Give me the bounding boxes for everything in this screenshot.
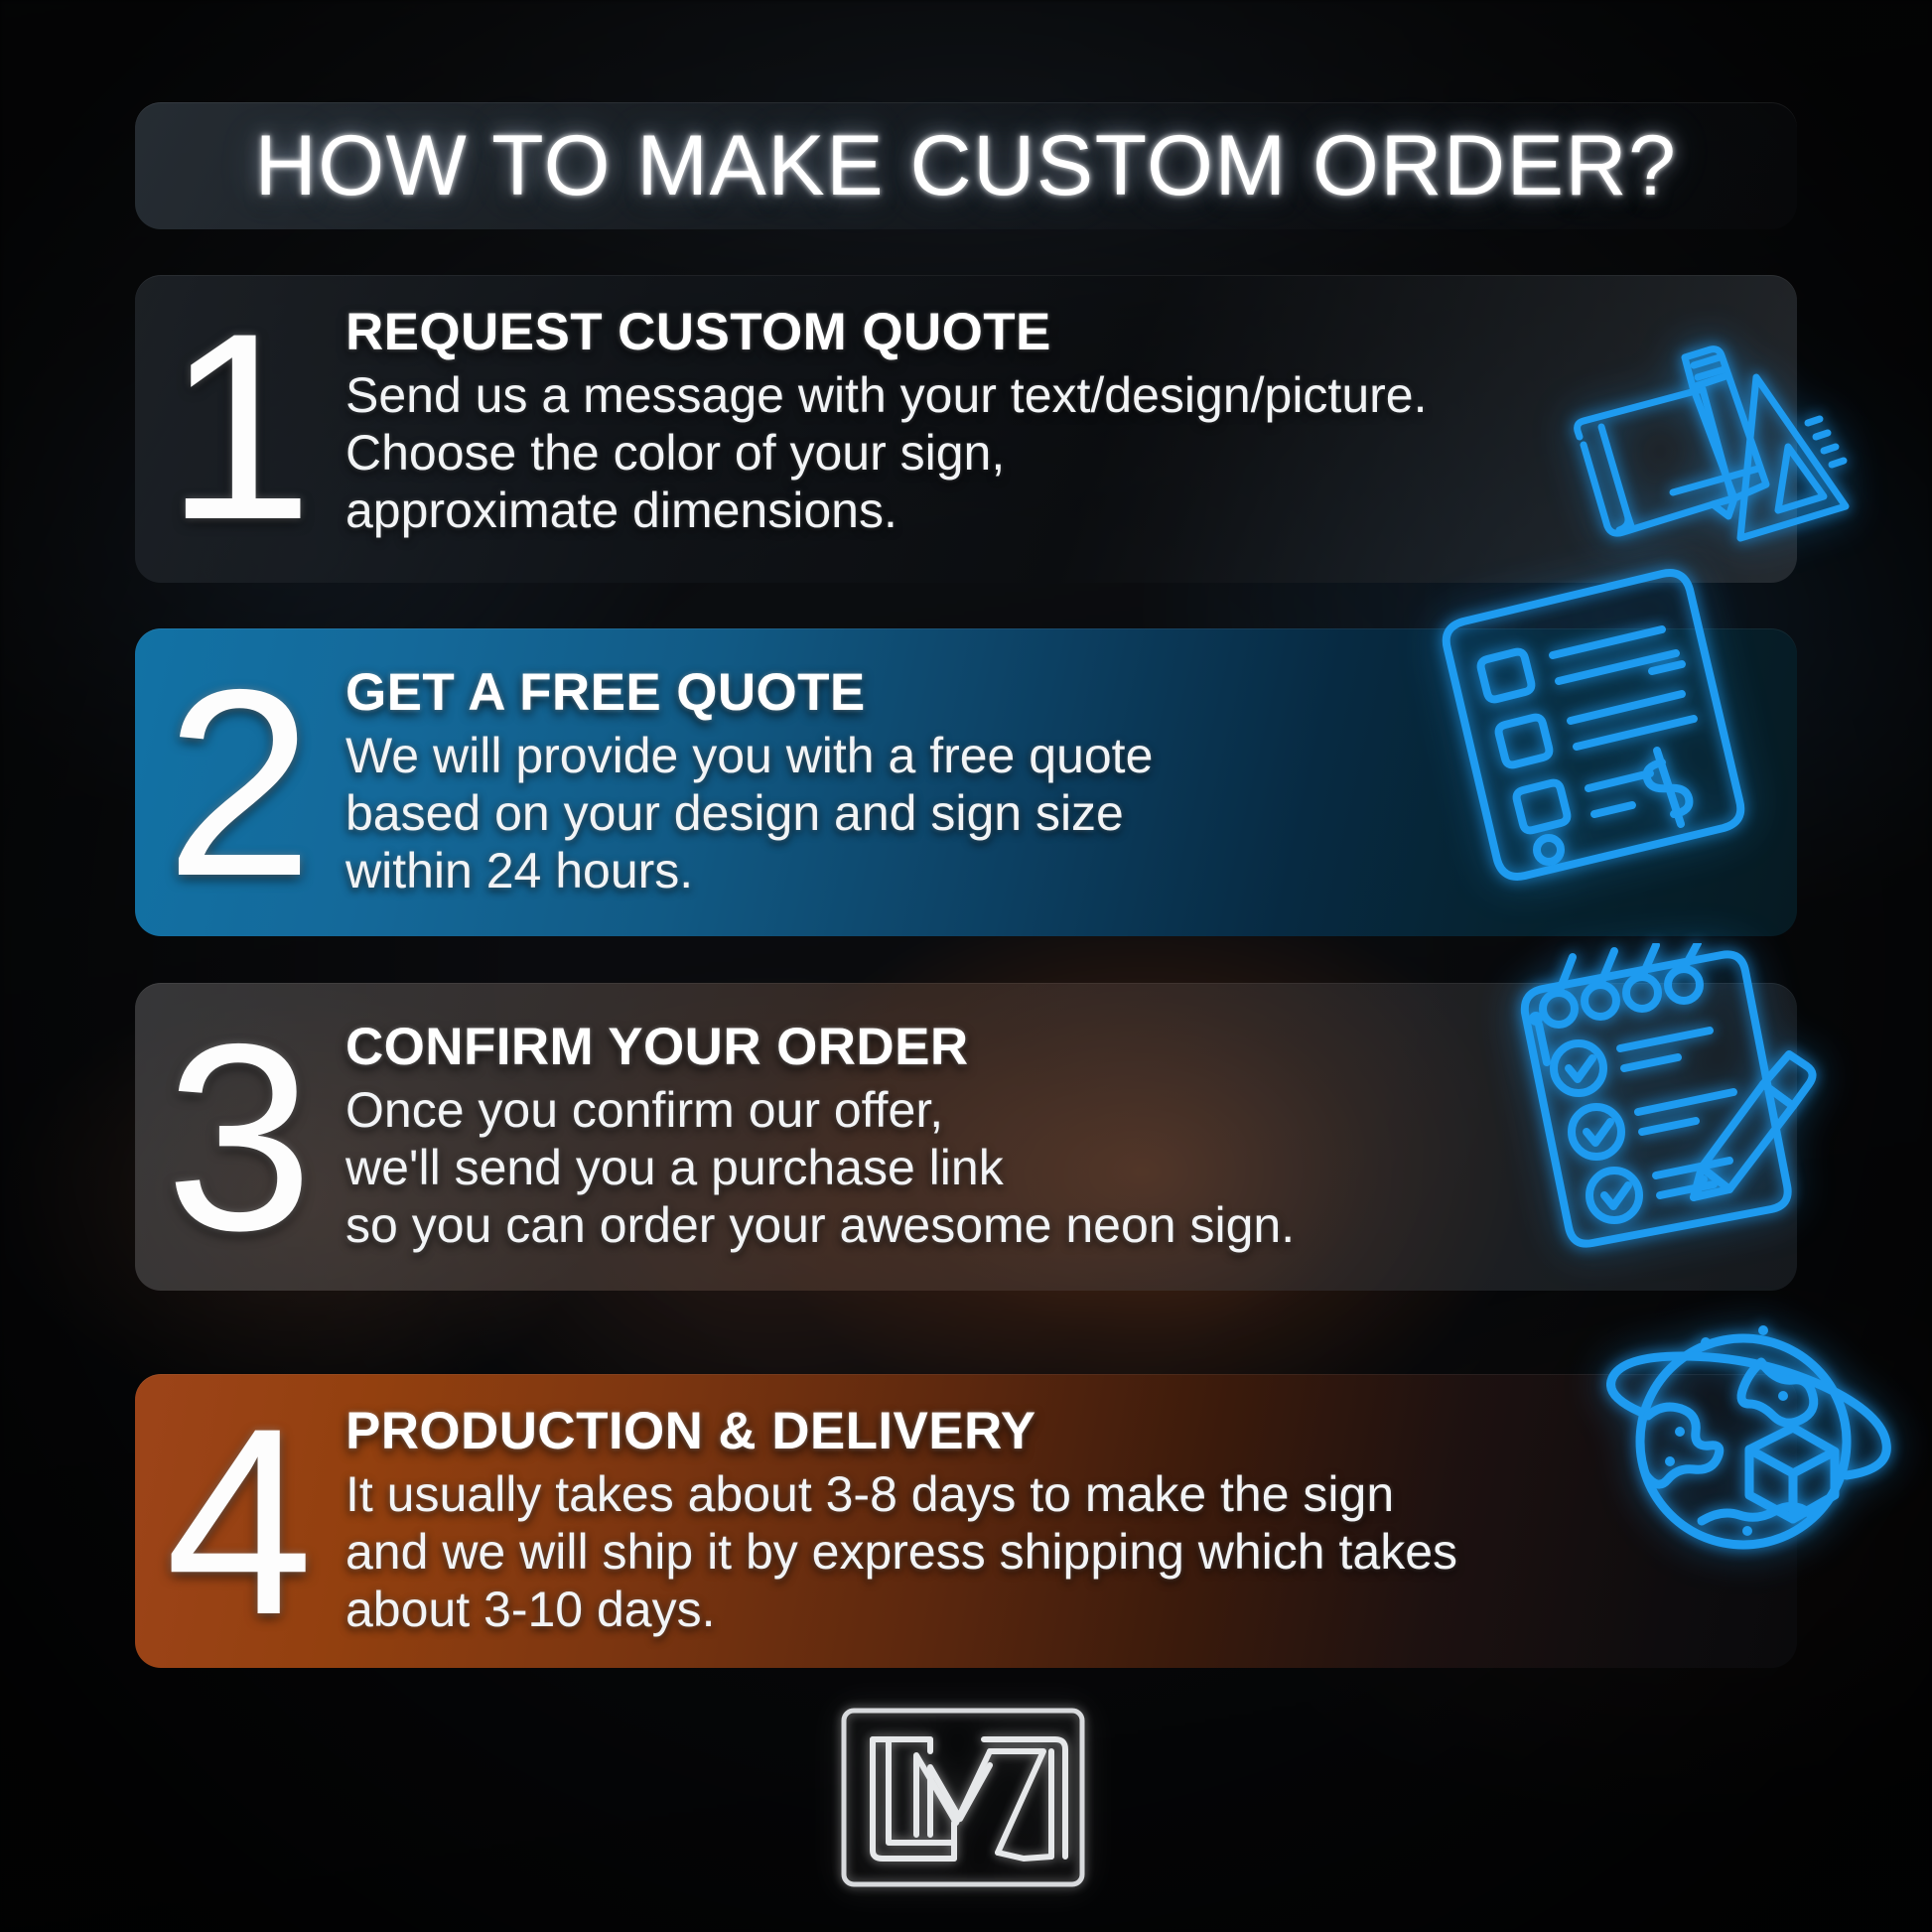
step-number-4: 4 <box>135 1374 344 1668</box>
step-content-4: PRODUCTION & DELIVERY It usually takes a… <box>345 1374 1773 1668</box>
step-number-3: 3 <box>135 983 344 1291</box>
page-title: HOW TO MAKE CUSTOM ORDER? <box>135 102 1797 229</box>
invoice-dollar-icon <box>1412 564 1759 892</box>
step-body-line: and we will ship it by express shipping … <box>345 1523 1773 1581</box>
step-body-4: It usually takes about 3-8 days to make … <box>345 1465 1773 1638</box>
infographic-page: HOW TO MAKE CUSTOM ORDER? 1 REQUEST CUST… <box>0 0 1932 1932</box>
step-body-line: about 3-10 days. <box>345 1581 1773 1638</box>
step-number-2: 2 <box>135 628 344 936</box>
blueprint-pencil-ruler-icon <box>1554 328 1852 586</box>
step-card-1: 1 REQUEST CUSTOM QUOTE Send us a message… <box>135 275 1797 583</box>
checklist-notepad-pencil-icon <box>1509 943 1837 1271</box>
step-body-line: It usually takes about 3-8 days to make … <box>345 1465 1773 1523</box>
globe-shipping-box-icon <box>1598 1301 1896 1579</box>
step-title-4: PRODUCTION & DELIVERY <box>345 1404 1773 1459</box>
step-number-1: 1 <box>135 275 344 583</box>
step-card-4: 4 PRODUCTION & DELIVERY It usually takes… <box>135 1374 1797 1668</box>
ln-monogram-logo <box>839 1706 1087 1889</box>
